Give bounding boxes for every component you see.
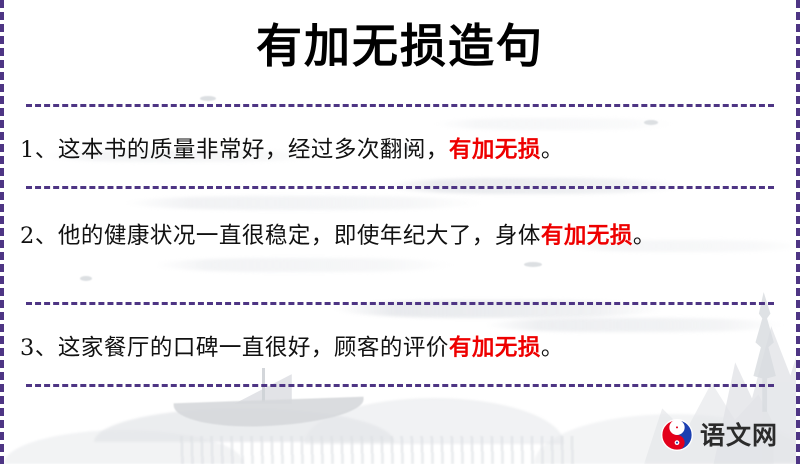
page-root: 有加无损造句 1、这本书的质量非常好，经过多次翻阅，有加无损。 2、他的健康状况… [0,0,800,464]
site-logo[interactable]: 语文网 [660,418,778,452]
divider-top [26,104,774,107]
sentence-number-2: 2、 [20,223,58,249]
example-sentence-2: 2、他的健康状况一直很稳定，即使年纪大了，身体有加无损。 [20,216,776,256]
divider-after-sentence-2 [26,302,774,305]
content-area: 有加无损造句 1、这本书的质量非常好，经过多次翻阅，有加无损。 2、他的健康状况… [4,0,796,464]
sentence-number-3: 3、 [20,335,58,361]
highlighted-keyword-1: 有加无损 [449,137,541,163]
example-sentence-1: 1、这本书的质量非常好，经过多次翻阅，有加无损。 [20,130,776,170]
sentence-text-after-1: 。 [541,137,564,163]
sentence-text-before-2: 他的健康状况一直很稳定，即使年纪大了，身体 [58,223,541,249]
page-title: 有加无损造句 [4,18,796,76]
highlighted-keyword-2: 有加无损 [541,223,633,249]
sentence-text-before-3: 这家餐厅的口碑一直很好，顾客的评价 [58,335,449,361]
divider-bottom [26,384,774,387]
yinyang-circle-logo-icon [660,418,694,452]
highlighted-keyword-3: 有加无损 [449,335,541,361]
site-logo-text: 语文网 [700,423,778,448]
divider-after-sentence-1 [26,186,774,189]
sentence-number-1: 1、 [20,137,58,163]
sentence-text-before-1: 这本书的质量非常好，经过多次翻阅， [58,137,449,163]
example-sentence-3: 3、这家餐厅的口碑一直很好，顾客的评价有加无损。 [20,328,776,368]
sentence-text-after-3: 。 [541,335,564,361]
sentence-text-after-2: 。 [633,223,656,249]
